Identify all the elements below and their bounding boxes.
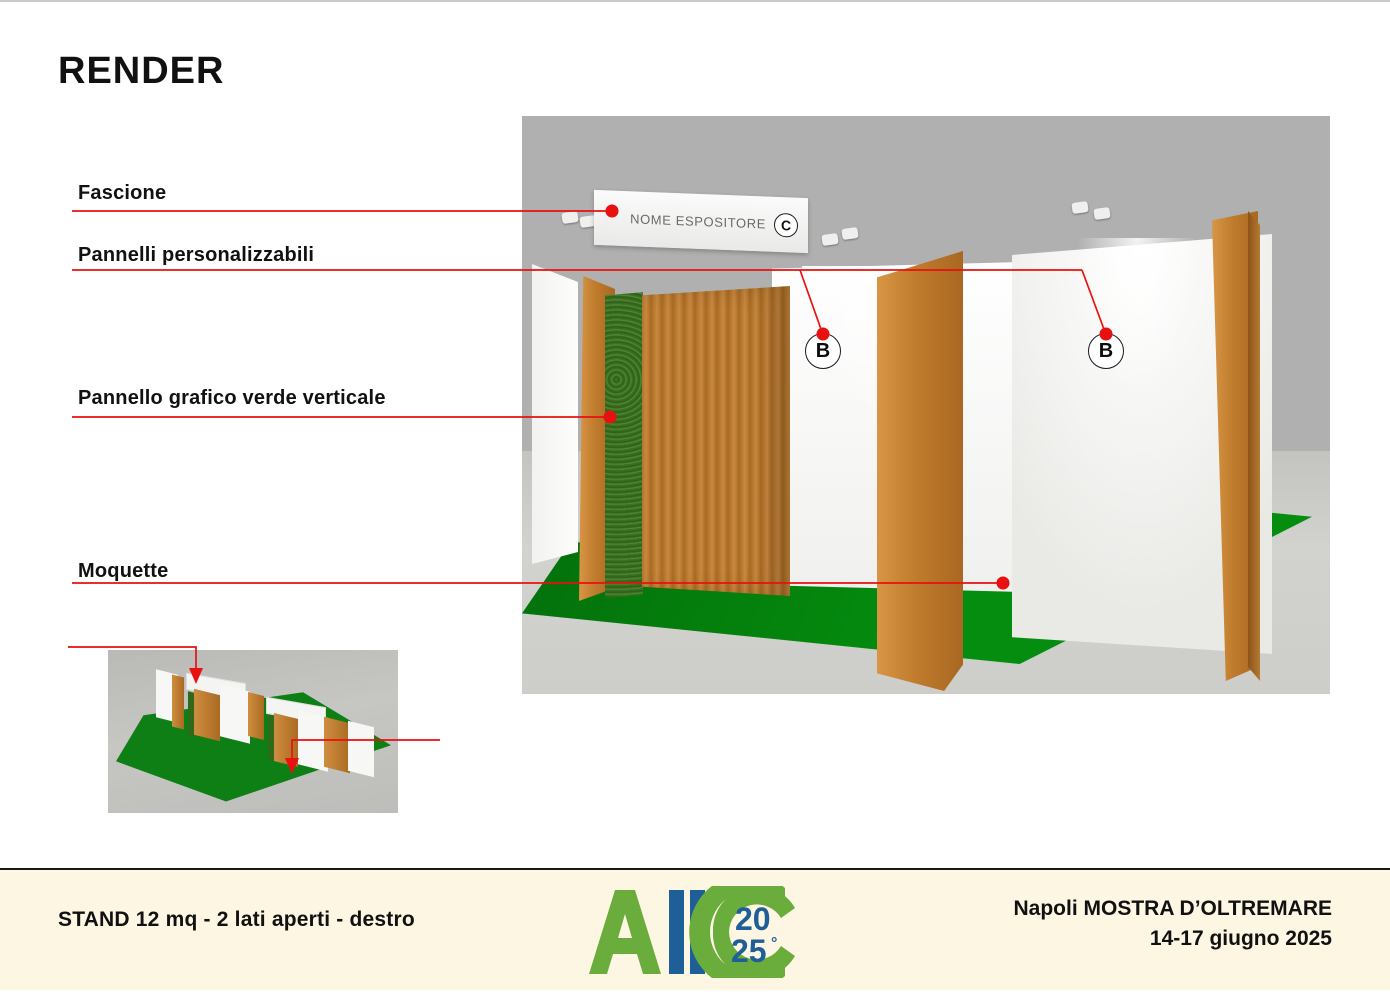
callout-label-fascione: Fascione [78,182,166,205]
marker-b-right: B [1088,333,1124,369]
marker-c-badge: C [774,212,798,237]
marker-b-left: B [805,333,841,369]
wood-pillar-center [877,251,963,691]
wood-slat-panel [642,286,790,596]
footer-banner: STAND 12 mq - 2 lati aperti - destro 20 … [0,868,1390,990]
thumbnail-pillar [194,689,220,741]
thumbnail-pillar [324,717,350,773]
stand-info-text: STAND 12 mq - 2 lati aperti - destro [58,908,415,932]
venue-info: Napoli MOSTRA D’OLTREMARE 14-17 giugno 2… [1014,894,1333,955]
slide-page: RENDER NOME ESPOSITORE C [0,0,1390,990]
allc-2025-logo: 20 25 ° [585,886,805,978]
venue-dates: 14-17 giugno 2025 [1014,924,1333,954]
thumbnail-pillar [274,713,298,767]
venue-name: Napoli MOSTRA D’OLTREMARE [1014,894,1333,924]
stand-overview-thumbnail [108,650,398,813]
render-image: NOME ESPOSITORE C [522,116,1330,694]
fascia-exhibitor-name: NOME ESPOSITORE [630,211,766,231]
green-graphic-panel [605,286,643,598]
callout-label-pannelli-personalizzabili: Pannelli personalizzabili [78,244,314,267]
thumbnail-pillar [172,675,184,730]
spotlight-fixture-icon [561,211,578,224]
fascia-sign: NOME ESPOSITORE C [594,190,808,253]
page-title: RENDER [58,50,224,93]
thumbnail-wall [348,721,374,777]
logo-year-bottom: 25 [731,933,767,969]
logo-degree-symbol: ° [771,935,777,952]
callout-label-moquette: Moquette [78,560,168,583]
thumbnail-pillar [248,692,264,740]
wall-left-panel [532,264,578,564]
spotlight-fixture-icon [841,227,858,240]
spotlight-fixture-icon [1093,207,1110,220]
callout-label-pannello-grafico-verde: Pannello grafico verde verticale [78,387,386,410]
thumbnail-wall [220,684,250,743]
wood-pillar-right-edge [1248,211,1260,681]
logo-year-top: 20 [735,901,771,937]
spotlight-fixture-icon [821,233,838,246]
logo-letter-a [589,890,661,974]
spotlight-fixture-icon [1071,201,1088,214]
